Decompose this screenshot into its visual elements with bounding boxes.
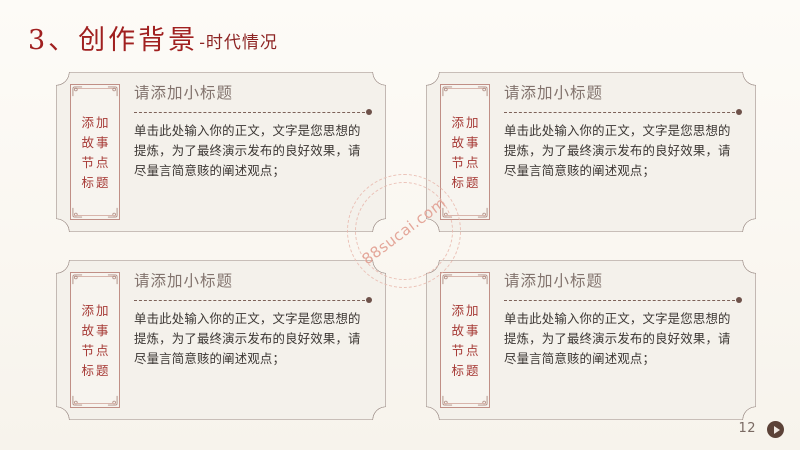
divider-end-dot: [736, 109, 742, 115]
card-grid: 添加 故事 节点 标题 请添加小标题 单击此处输入你的正文，文字是您思想的提炼，…: [56, 72, 756, 422]
divider-dashed-line: [504, 112, 735, 113]
card-body-text[interactable]: 单击此处输入你的正文，文字是您思想的提炼，为了最终演示发布的良好效果，请尽量言简…: [504, 121, 742, 182]
card-label-box: 添加 故事 节点 标题: [70, 272, 120, 408]
card-label-line: 节点: [449, 341, 480, 360]
corner-ornament-icon: [72, 274, 83, 285]
card-divider: [504, 296, 742, 305]
corner-ornament-icon: [477, 207, 488, 218]
corner-ornament-icon: [107, 207, 118, 218]
divider-end-dot: [366, 297, 372, 303]
story-card[interactable]: 添加 故事 节点 标题 请添加小标题 单击此处输入你的正文，文字是您思想的提炼，…: [426, 260, 756, 420]
card-label-line: 添加: [79, 113, 110, 132]
page-title: 3、创作背景 -时代情况: [28, 18, 278, 57]
corner-ornament-icon: [442, 86, 453, 97]
card-label-line: 故事: [79, 133, 110, 152]
card-subtitle[interactable]: 请添加小标题: [134, 273, 372, 290]
card-body: 请添加小标题 单击此处输入你的正文，文字是您思想的提炼，为了最终演示发布的良好效…: [120, 83, 372, 221]
card-label-line: 添加: [449, 113, 480, 132]
card-divider: [504, 108, 742, 117]
card-body-text[interactable]: 单击此处输入你的正文，文字是您思想的提炼，为了最终演示发布的良好效果，请尽量言简…: [504, 309, 742, 370]
corner-ornament-icon: [477, 86, 488, 97]
card-subtitle[interactable]: 请添加小标题: [504, 273, 742, 290]
card-label-box: 添加 故事 节点 标题: [440, 272, 490, 408]
corner-ornament-icon: [72, 395, 83, 406]
card-label-line: 标题: [449, 173, 480, 192]
corner-ornament-icon: [72, 86, 83, 97]
card-label-line: 添加: [449, 301, 480, 320]
corner-ornament-icon: [442, 274, 453, 285]
divider-dashed-line: [134, 300, 365, 301]
card-divider: [134, 296, 372, 305]
story-card[interactable]: 添加 故事 节点 标题 请添加小标题 单击此处输入你的正文，文字是您思想的提炼，…: [426, 72, 756, 232]
card-label-line: 标题: [79, 361, 110, 380]
card-body: 请添加小标题 单击此处输入你的正文，文字是您思想的提炼，为了最终演示发布的良好效…: [490, 83, 742, 221]
card-label-line: 故事: [449, 133, 480, 152]
corner-ornament-icon: [72, 207, 83, 218]
page-number: 12: [738, 421, 756, 436]
card-divider: [134, 108, 372, 117]
card-label-line: 故事: [79, 321, 110, 340]
card-label-line: 故事: [449, 321, 480, 340]
card-label-line: 节点: [79, 153, 110, 172]
card-body-text[interactable]: 单击此处输入你的正文，文字是您思想的提炼，为了最终演示发布的良好效果，请尽量言简…: [134, 309, 372, 370]
card-subtitle[interactable]: 请添加小标题: [504, 85, 742, 102]
divider-dashed-line: [504, 300, 735, 301]
page-title-subtitle: -时代情况: [199, 28, 278, 53]
card-subtitle[interactable]: 请添加小标题: [134, 85, 372, 102]
card-label-line: 节点: [79, 341, 110, 360]
divider-dashed-line: [134, 112, 365, 113]
card-label-line: 标题: [449, 361, 480, 380]
play-circle-icon[interactable]: [767, 421, 784, 438]
page-title-main: 3、创作背景: [28, 18, 198, 57]
corner-ornament-icon: [477, 395, 488, 406]
divider-end-dot: [366, 109, 372, 115]
card-label-line: 添加: [79, 301, 110, 320]
corner-ornament-icon: [107, 274, 118, 285]
card-label-box: 添加 故事 节点 标题: [440, 84, 490, 220]
corner-ornament-icon: [442, 395, 453, 406]
slide-canvas: 3、创作背景 -时代情况 88sucai.com 添加 故事 节点: [0, 0, 800, 450]
card-body: 请添加小标题 单击此处输入你的正文，文字是您思想的提炼，为了最终演示发布的良好效…: [490, 271, 742, 409]
card-label-line: 节点: [449, 153, 480, 172]
corner-ornament-icon: [107, 86, 118, 97]
corner-ornament-icon: [477, 274, 488, 285]
card-label-line: 标题: [79, 173, 110, 192]
divider-end-dot: [736, 297, 742, 303]
story-card[interactable]: 添加 故事 节点 标题 请添加小标题 单击此处输入你的正文，文字是您思想的提炼，…: [56, 260, 386, 420]
card-body: 请添加小标题 单击此处输入你的正文，文字是您思想的提炼，为了最终演示发布的良好效…: [120, 271, 372, 409]
card-body-text[interactable]: 单击此处输入你的正文，文字是您思想的提炼，为了最终演示发布的良好效果，请尽量言简…: [134, 121, 372, 182]
card-label-box: 添加 故事 节点 标题: [70, 84, 120, 220]
story-card[interactable]: 添加 故事 节点 标题 请添加小标题 单击此处输入你的正文，文字是您思想的提炼，…: [56, 72, 386, 232]
corner-ornament-icon: [442, 207, 453, 218]
corner-ornament-icon: [107, 395, 118, 406]
